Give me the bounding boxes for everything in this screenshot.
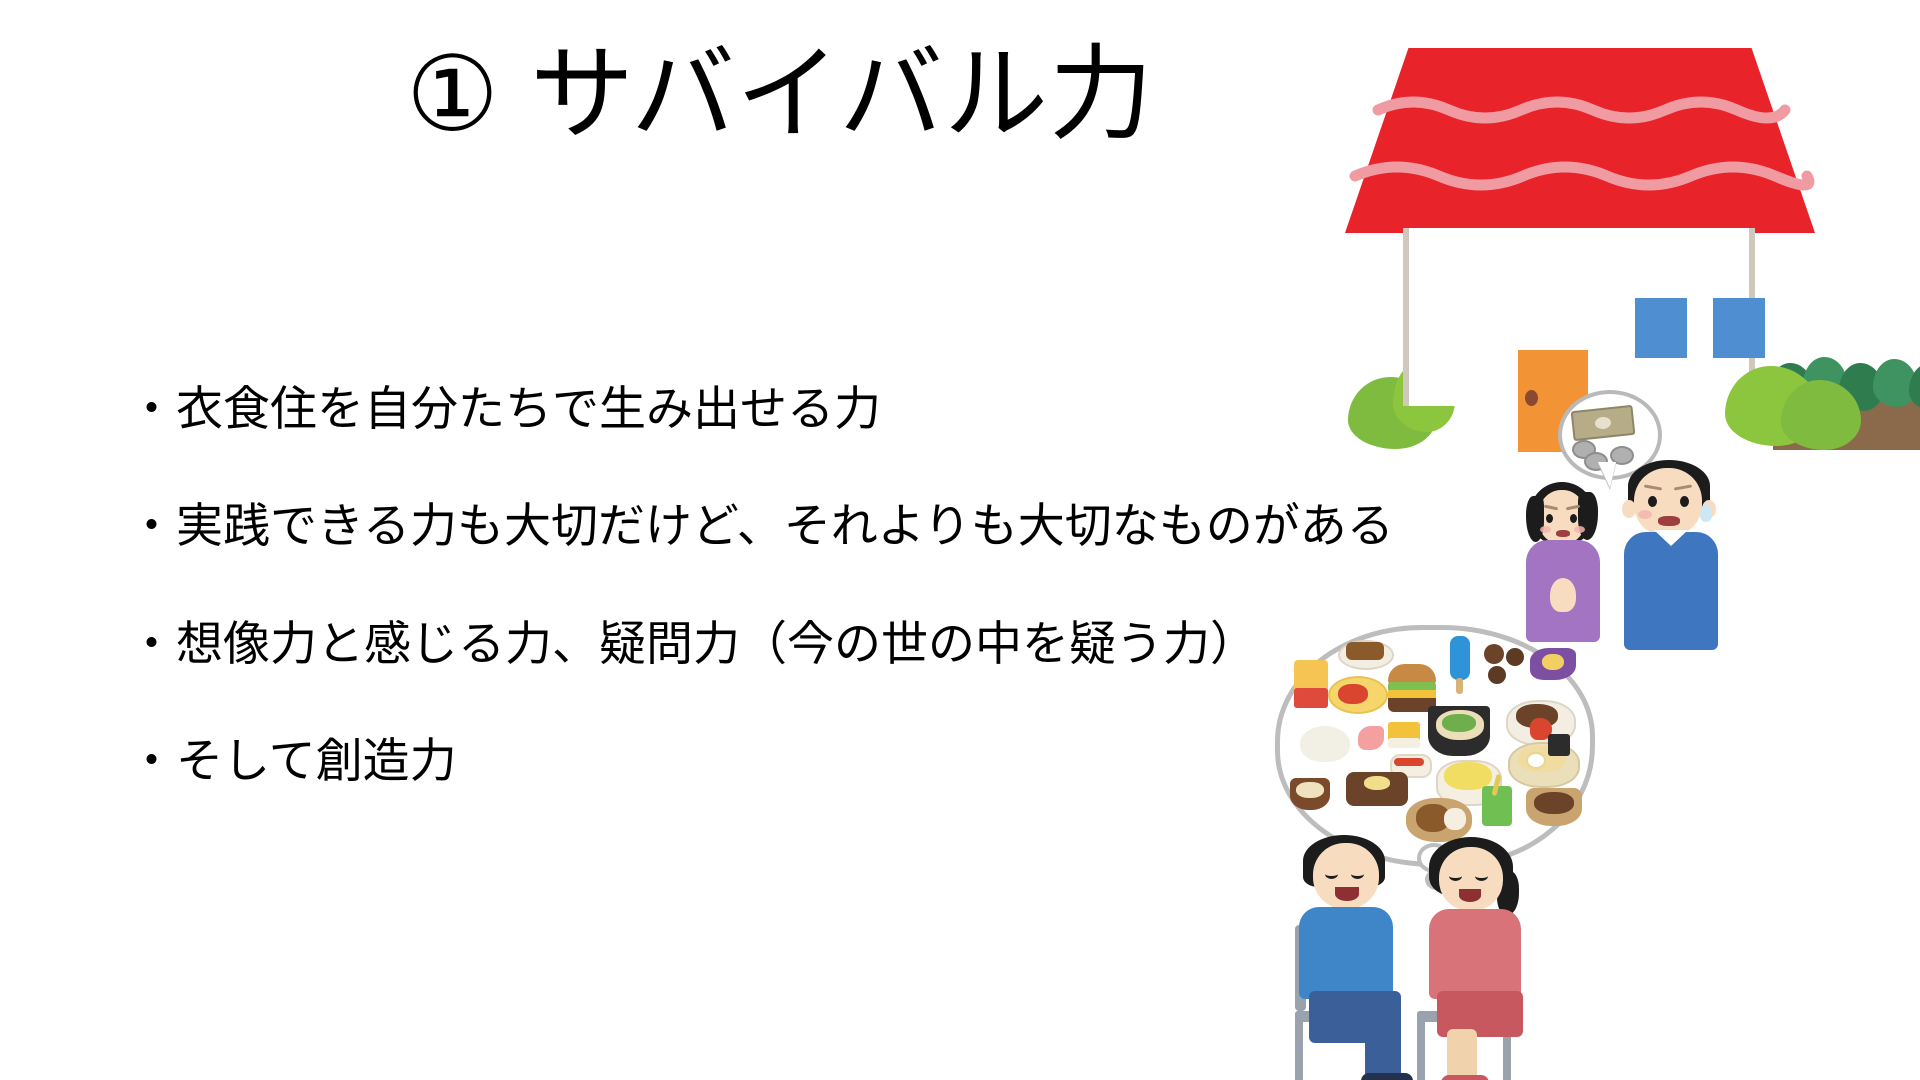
bullet-text: 実践できる力も大切だけど、それよりも大切なものがある (176, 497, 1394, 555)
list-item: ・ 実践できる力も大切だけど、それよりも大切なものがある (128, 497, 1478, 555)
list-item: ・ 衣食住を自分たちで生み出せる力 (128, 380, 1478, 438)
bullet-marker-icon: ・ (128, 732, 176, 790)
sushi-rice-icon (1388, 738, 1420, 748)
egg-icon (1526, 752, 1546, 769)
dango-icon (1484, 644, 1504, 664)
sandwich-filling-icon (1394, 758, 1424, 766)
food-thought-bubble (1275, 625, 1595, 867)
rice-bowl-icon (1300, 726, 1350, 762)
bullet-marker-icon: ・ (128, 380, 176, 438)
banknote-icon (1571, 405, 1636, 441)
popsicle-stick-icon (1456, 678, 1463, 694)
dango-icon (1506, 648, 1524, 666)
soup-contents-icon (1296, 782, 1324, 798)
bullet-text: 想像力と感じる力、疑問力（今の世の中を疑う力） (176, 615, 1257, 673)
cutlet-icon (1346, 642, 1384, 660)
house-illustration (1345, 30, 1920, 450)
worried-man (1620, 460, 1730, 650)
roof-wave-lines (1345, 48, 1815, 233)
house-window (1635, 298, 1687, 358)
bullet-text: 衣食住を自分たちで生み出せる力 (176, 380, 881, 438)
nori-icon (1548, 734, 1570, 756)
food-dream-couple-illustration (1265, 625, 1610, 1065)
stew-contents-icon (1534, 792, 1574, 814)
popsicle-icon (1450, 636, 1470, 680)
seated-man (1295, 835, 1425, 1080)
potato-flesh-icon (1542, 654, 1564, 670)
fries-box-icon (1294, 688, 1328, 708)
omelet-icon (1338, 684, 1368, 704)
house-window (1713, 298, 1765, 358)
burger-bun-icon (1388, 664, 1436, 684)
curry-rice-icon (1444, 808, 1466, 830)
slide-canvas: ① サバイバル力 ・ 衣食住を自分たちで生み出せる力 ・ 実践できる力も大切だけ… (0, 0, 1920, 1080)
bullet-text: そして創造力 (176, 732, 457, 790)
page-title: ① サバイバル力 (0, 34, 1560, 157)
bullet-marker-icon: ・ (128, 497, 176, 555)
dango-icon (1488, 666, 1506, 684)
bullet-marker-icon: ・ (128, 615, 176, 673)
worried-couple-illustration (1510, 390, 1780, 650)
hotpot-greens-icon (1442, 714, 1476, 732)
worried-woman (1520, 482, 1612, 642)
seated-woman (1425, 837, 1555, 1080)
shrimp-icon (1358, 726, 1384, 750)
butter-icon (1364, 776, 1390, 790)
